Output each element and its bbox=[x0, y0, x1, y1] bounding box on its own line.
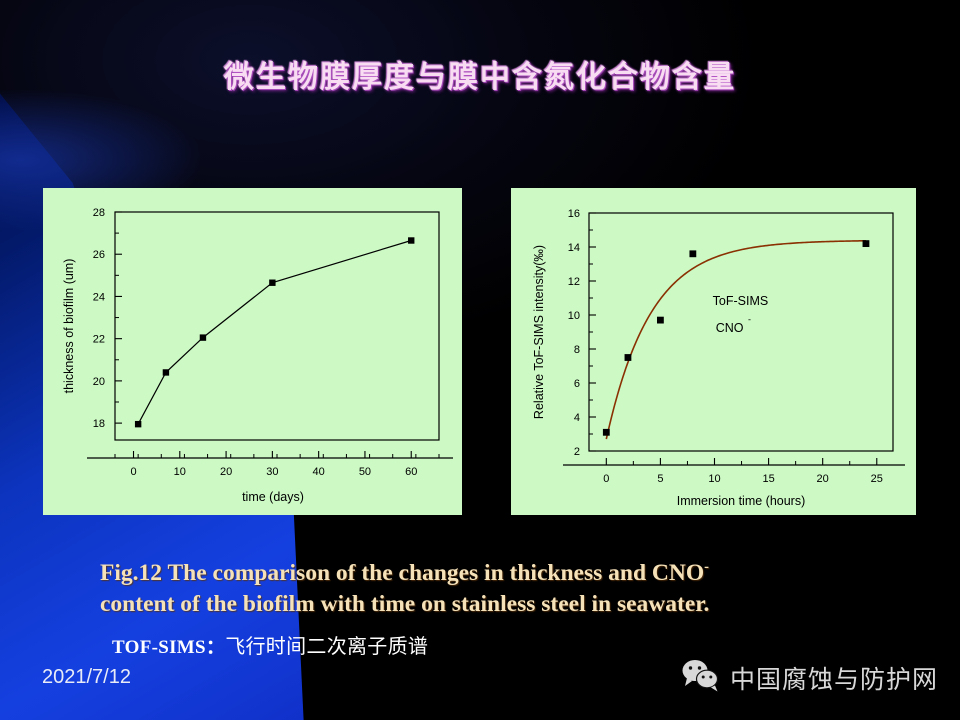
y-tick-label: 10 bbox=[568, 310, 580, 322]
y-tick-label: 18 bbox=[93, 418, 105, 430]
y-tick-label: 28 bbox=[93, 207, 105, 219]
annotation-cno: CNO bbox=[716, 321, 744, 335]
y-tick-label: 22 bbox=[93, 334, 105, 346]
x-tick-label: 10 bbox=[174, 466, 186, 478]
y-tick-label: 6 bbox=[574, 378, 580, 390]
y-tick-label: 14 bbox=[568, 242, 580, 254]
y-tick-label: 12 bbox=[568, 276, 580, 288]
y-tick-label: 24 bbox=[93, 291, 105, 303]
data-point-marker bbox=[269, 280, 275, 286]
data-point-marker bbox=[200, 334, 206, 340]
chart-panel-cno-tof-sims: 2468101214160510152025ToF-SIMSCNO-Immers… bbox=[511, 188, 916, 515]
caption-line-2: content of the biofilm with time on stai… bbox=[100, 591, 709, 617]
caption-superscript-minus: - bbox=[704, 559, 709, 575]
y-tick-label: 8 bbox=[574, 344, 580, 356]
watermark-label: 中国腐蚀与防护网 bbox=[730, 660, 938, 696]
biofilm-thickness-chart: 1820222426280102030405060time (days)thic… bbox=[43, 188, 462, 515]
caption-line-1: Fig.12 The comparison of the changes in … bbox=[100, 560, 709, 586]
x-tick-label: 25 bbox=[871, 473, 883, 485]
tof-sims-abbrev: TOF-SIMS： bbox=[112, 637, 225, 658]
x-axis-title: Immersion time (hours) bbox=[677, 494, 806, 508]
presentation-slide: 微生物膜厚度与膜中含氮化合物含量 18202224262801020304050… bbox=[0, 0, 960, 720]
y-tick-label: 16 bbox=[568, 208, 580, 220]
chart-panel-biofilm-thickness: 1820222426280102030405060time (days)thic… bbox=[43, 188, 462, 515]
y-tick-label: 2 bbox=[574, 446, 580, 458]
x-axis-title: time (days) bbox=[242, 490, 304, 504]
cno-tof-sims-chart: 2468101214160510152025ToF-SIMSCNO-Immers… bbox=[511, 188, 916, 515]
y-tick-label: 4 bbox=[574, 412, 580, 424]
tof-sims-definition-note: TOF-SIMS：飞行时间二次离子质谱 bbox=[112, 630, 428, 659]
fit-curve bbox=[606, 241, 866, 439]
x-tick-label: 20 bbox=[817, 473, 829, 485]
x-tick-label: 50 bbox=[359, 466, 371, 478]
data-point-marker bbox=[657, 317, 664, 324]
x-tick-label: 20 bbox=[220, 466, 232, 478]
data-point-marker bbox=[689, 250, 696, 257]
x-tick-label: 0 bbox=[603, 473, 609, 485]
data-point-marker bbox=[408, 237, 414, 243]
y-tick-label: 20 bbox=[93, 376, 105, 388]
x-tick-label: 15 bbox=[762, 473, 774, 485]
x-tick-label: 30 bbox=[266, 466, 278, 478]
annotation-tof-sims: ToF-SIMS bbox=[713, 294, 769, 308]
annotation-cno-superscript: - bbox=[748, 315, 751, 325]
y-axis-title: Relative ToF-SIMS intensity(‰) bbox=[532, 245, 546, 419]
x-tick-label: 40 bbox=[313, 466, 325, 478]
data-series-line bbox=[138, 241, 411, 425]
watermark: 中国腐蚀与防护网 bbox=[680, 658, 938, 697]
y-axis-title: thickness of biofilm (um) bbox=[62, 259, 76, 394]
page-title: 微生物膜厚度与膜中含氮化合物含量 bbox=[0, 52, 960, 96]
tof-sims-chinese-meaning: 飞行时间二次离子质谱 bbox=[225, 634, 428, 658]
wechat-logo-icon bbox=[680, 658, 720, 697]
x-tick-label: 60 bbox=[405, 466, 417, 478]
x-tick-label: 0 bbox=[130, 466, 136, 478]
data-point-marker bbox=[163, 369, 169, 375]
data-point-marker bbox=[603, 429, 610, 436]
date-stamp: 2021/7/12 bbox=[42, 666, 131, 689]
y-tick-label: 26 bbox=[93, 249, 105, 261]
figure-caption: Fig.12 The comparison of the changes in … bbox=[100, 552, 890, 620]
x-tick-label: 10 bbox=[708, 473, 720, 485]
data-point-marker bbox=[625, 354, 632, 361]
data-point-marker bbox=[135, 421, 141, 427]
x-tick-label: 5 bbox=[657, 473, 663, 485]
data-point-marker bbox=[863, 240, 870, 247]
